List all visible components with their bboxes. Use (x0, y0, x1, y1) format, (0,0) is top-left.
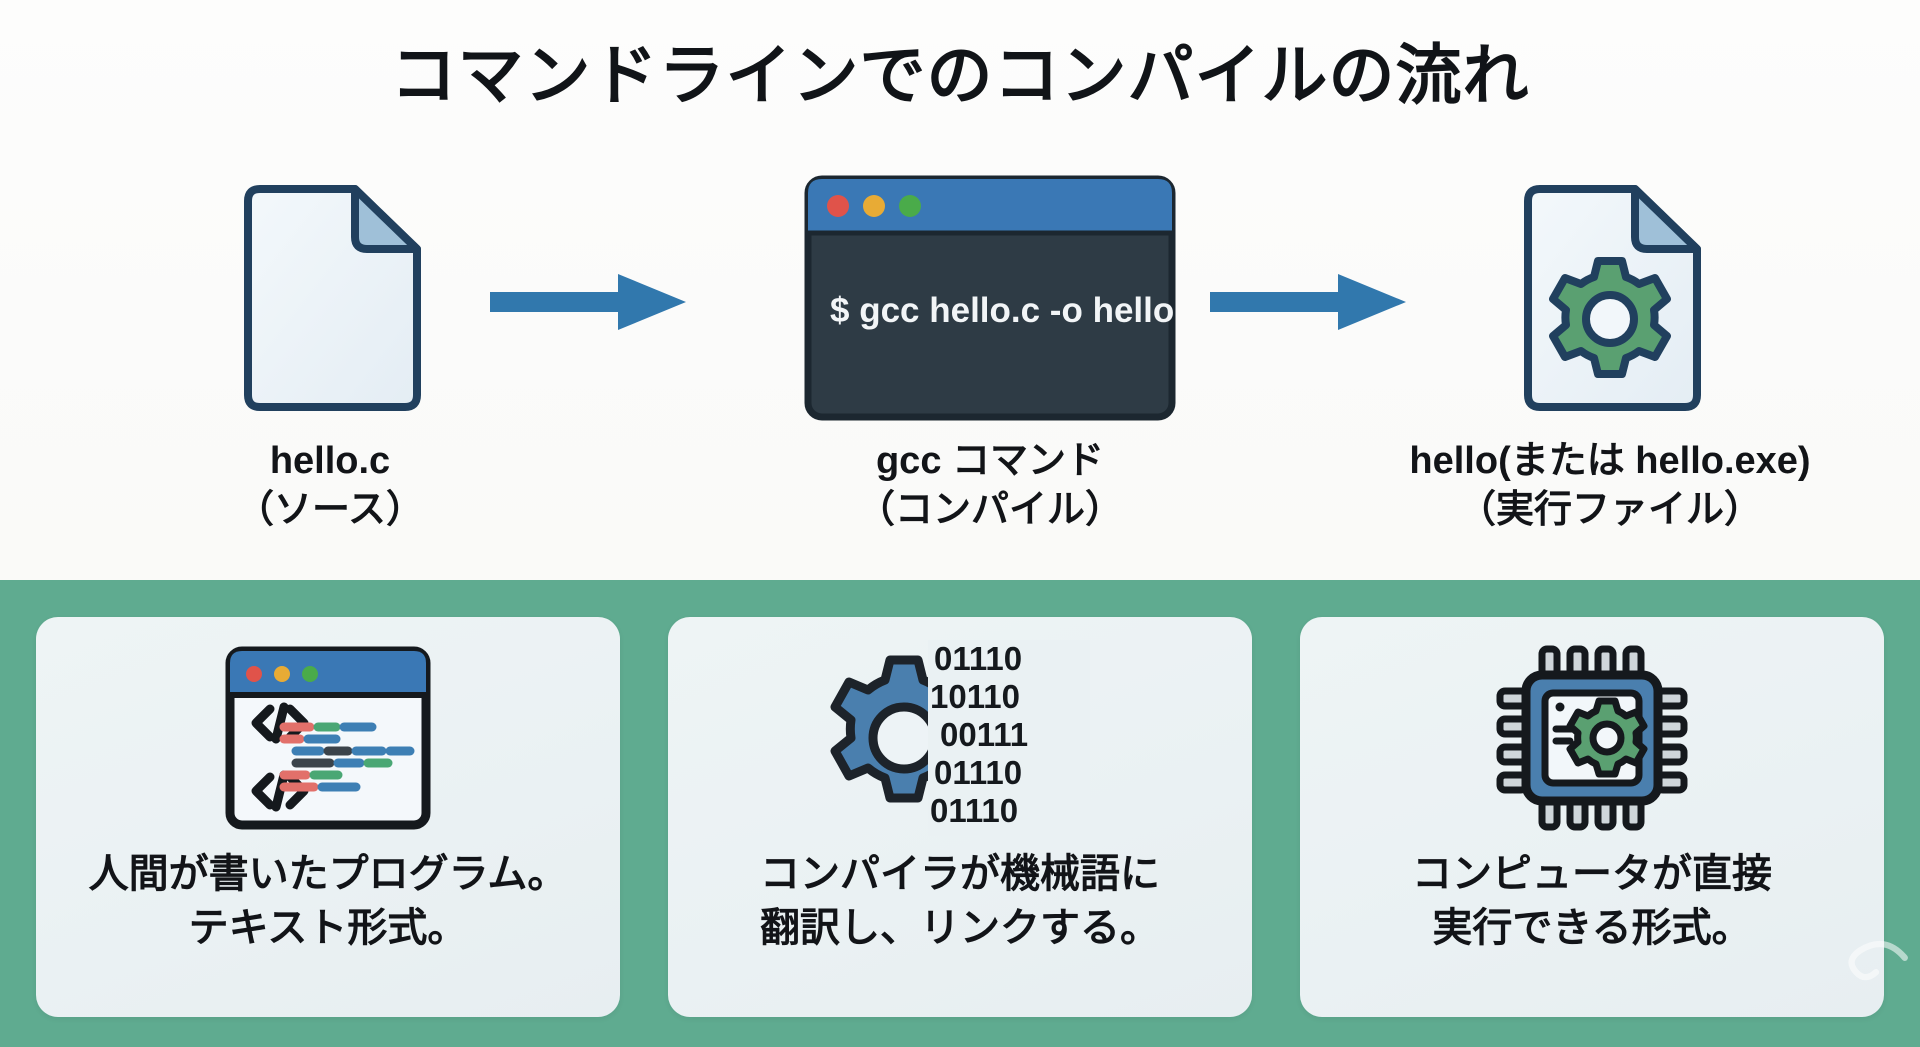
executable-file-icon (1390, 170, 1830, 425)
explanation-cards-row: 人間が書いたプログラム。 テキスト形式。 01110 10110 00111 (36, 617, 1884, 1017)
flow-step-executable-caption: hello(または hello.exe) （実行ファイル） (1390, 437, 1830, 534)
card-executable-line1: コンピュータが直接 (1412, 852, 1772, 896)
svg-text:00111: 00111 (940, 716, 1028, 753)
source-file-icon (110, 170, 550, 425)
card-compiler-line2: 翻訳し、リンクする。 (760, 902, 1160, 956)
card-executable-line2: 実行できる形式。 (1412, 902, 1772, 956)
flow-step-gcc-title: gcc コマンド (876, 440, 1104, 482)
card-compiler: 01110 10110 00111 01110 01110 コンパイラが機械語に… (668, 617, 1252, 1017)
svg-text:$ gcc hello.c -o hello: $ gcc hello.c -o hello (830, 291, 1174, 330)
svg-text:10110: 10110 (930, 678, 1020, 715)
flow-step-executable-subtitle: （実行ファイル） (1390, 486, 1830, 535)
svg-text:01110: 01110 (934, 640, 1022, 677)
card-compiler-line1: コンパイラが機械語に (760, 852, 1160, 896)
card-source-code-line1: 人間が書いたプログラム。 (89, 852, 568, 896)
flow-step-executable: hello(または hello.exe) （実行ファイル） (1390, 170, 1830, 534)
card-compiler-text: コンパイラが機械語に 翻訳し、リンクする。 (760, 848, 1160, 955)
terminal-window-icon: $ gcc hello.c -o hello (770, 170, 1210, 425)
explanation-section: 人間が書いたプログラム。 テキスト形式。 01110 10110 00111 (0, 580, 1920, 1047)
card-source-code: 人間が書いたプログラム。 テキスト形式。 (36, 617, 620, 1017)
cpu-chip-gear-icon (1494, 635, 1690, 840)
card-source-code-text: 人間が書いたプログラム。 テキスト形式。 (89, 848, 568, 955)
flow-step-source-subtitle: （ソース） (110, 486, 550, 535)
flow-step-source-title: hello.c (270, 440, 390, 482)
flow-step-source-caption: hello.c （ソース） (110, 437, 550, 534)
card-executable: コンピュータが直接 実行できる形式。 (1300, 617, 1884, 1017)
flow-section: コマンドラインでのコンパイルの流れ (0, 0, 1920, 580)
flow-step-executable-title: hello(または hello.exe) (1409, 440, 1810, 482)
gear-binary-icon: 01110 10110 00111 01110 01110 (830, 635, 1090, 840)
flow-step-gcc-subtitle: （コンパイル） (770, 486, 1210, 535)
arrow-source-to-gcc (490, 270, 690, 334)
svg-text:01110: 01110 (930, 792, 1018, 829)
compile-flow-row: hello.c （ソース） $ gcc hello.c -o hello (0, 170, 1920, 570)
page-title: コマンドラインでのコンパイルの流れ (0, 22, 1920, 118)
svg-text:01110: 01110 (934, 754, 1022, 791)
flow-step-gcc: $ gcc hello.c -o hello gcc コマンド （コンパイル） (770, 170, 1210, 534)
code-editor-icon (222, 635, 434, 840)
flow-step-gcc-caption: gcc コマンド （コンパイル） (770, 437, 1210, 534)
flow-step-source: hello.c （ソース） (110, 170, 550, 534)
arrow-gcc-to-executable (1210, 270, 1410, 334)
card-executable-text: コンピュータが直接 実行できる形式。 (1412, 848, 1772, 955)
card-source-code-line2: テキスト形式。 (89, 902, 568, 956)
